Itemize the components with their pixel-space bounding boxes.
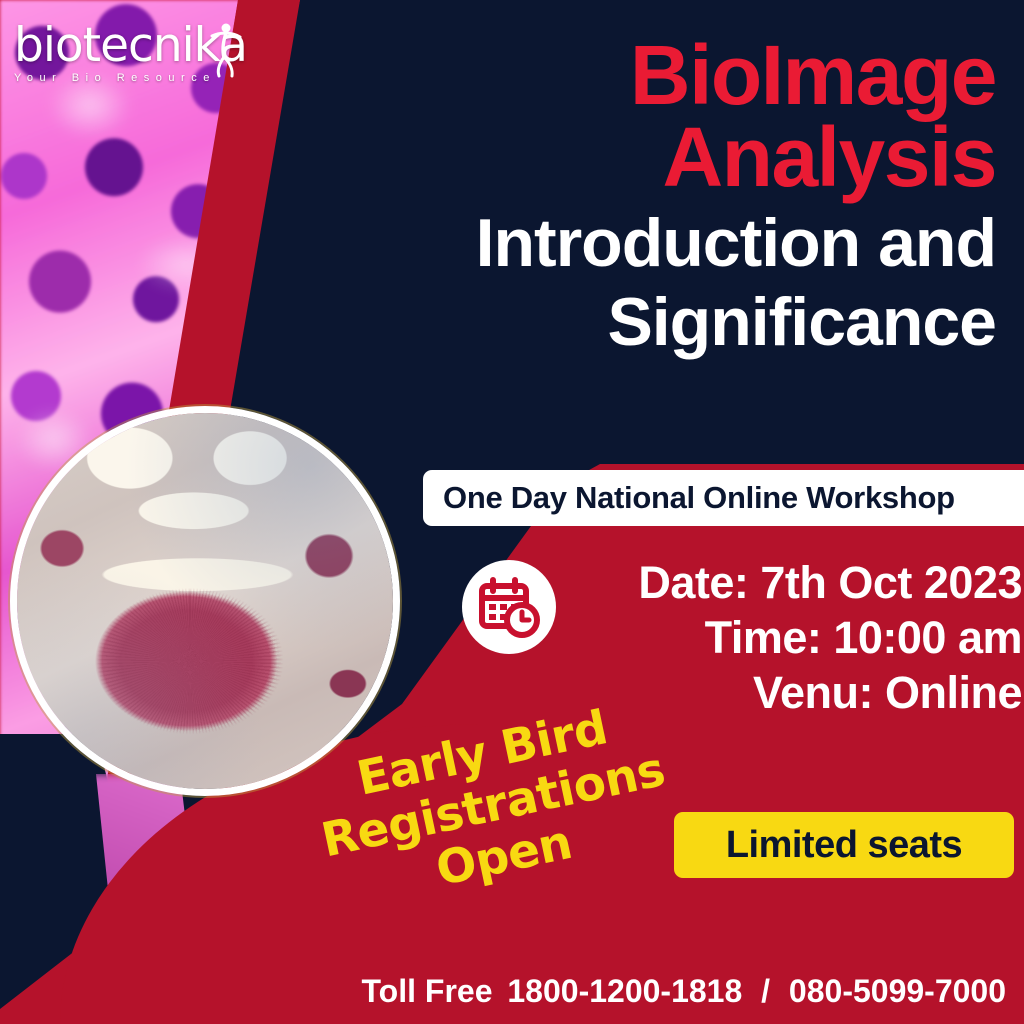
microscope-color-tint — [17, 413, 393, 789]
toll-free-phone-primary[interactable]: 1800-1200-1818 — [507, 973, 742, 1009]
limited-seats-label: Limited seats — [726, 824, 962, 867]
workshop-banner-label: One Day National Online Workshop — [423, 480, 955, 516]
event-date: Date: 7th Oct 2023 — [556, 556, 1022, 611]
title-line-1: BioImage — [356, 34, 996, 116]
microscope-section-image — [10, 406, 400, 796]
title-line-3: Introduction and — [356, 209, 996, 278]
event-details: Date: 7th Oct 2023 Time: 10:00 am Venu: … — [462, 556, 1022, 721]
dancing-figure-icon — [206, 20, 246, 78]
toll-free-separator: / — [761, 973, 770, 1009]
calendar-clock-icon — [462, 560, 556, 654]
title-line-2: Analysis — [356, 116, 996, 198]
page-title: BioImage Analysis Introduction and Signi… — [356, 34, 996, 357]
toll-free-label: Toll Free — [362, 973, 493, 1009]
promotional-poster: biotecnika Your Bio Resource BioImage An… — [0, 0, 1024, 1024]
title-line-4: Significance — [356, 288, 996, 357]
event-time: Time: 10:00 am — [556, 611, 1022, 666]
toll-free-footer: Toll Free 1800-1200-1818 / 080-5099-7000 — [0, 973, 1006, 1010]
workshop-banner: One Day National Online Workshop — [423, 470, 1024, 526]
brand-logo[interactable]: biotecnika Your Bio Resource — [14, 22, 264, 84]
limited-seats-badge: Limited seats — [674, 812, 1014, 878]
toll-free-phone-secondary[interactable]: 080-5099-7000 — [789, 973, 1006, 1009]
